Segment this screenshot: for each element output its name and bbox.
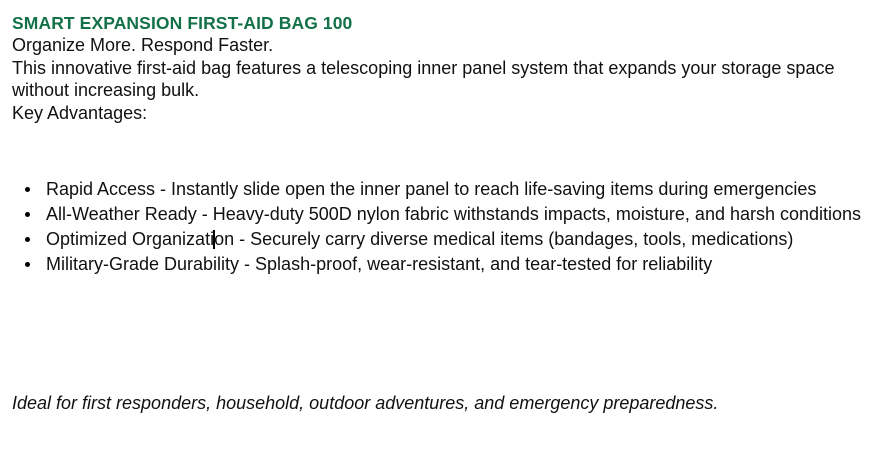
key-advantages-list: Rapid Access - Instantly slide open the …: [12, 178, 888, 278]
bullet-dot-icon: [25, 187, 30, 192]
product-tagline: Organize More. Respond Faster.: [12, 34, 886, 57]
list-item[interactable]: Optimized Organization - Securely carry …: [12, 228, 888, 251]
product-description-page: SMART EXPANSION FIRST-AID BAG 100 Organi…: [0, 0, 894, 449]
bullet-dot-icon: [25, 212, 30, 217]
bullet-dot-icon: [25, 262, 30, 267]
list-item-text: Rapid Access - Instantly slide open the …: [46, 179, 816, 199]
key-advantages-label: Key Advantages:: [12, 102, 886, 125]
list-item: Military-Grade Durability - Splash-proof…: [12, 253, 888, 276]
list-item-text-before-caret: Optimized Organizati: [46, 229, 214, 249]
closing-statement: Ideal for first responders, household, o…: [12, 392, 812, 415]
product-intro-paragraph: This innovative first-aid bag features a…: [12, 57, 874, 102]
list-item-text: All-Weather Ready - Heavy-duty 500D nylo…: [46, 204, 861, 224]
list-item: All-Weather Ready - Heavy-duty 500D nylo…: [12, 203, 888, 226]
list-item: Rapid Access - Instantly slide open the …: [12, 178, 888, 201]
bullet-dot-icon: [25, 237, 30, 242]
list-item-text-after-caret: on - Securely carry diverse medical item…: [214, 229, 793, 249]
page-title: SMART EXPANSION FIRST-AID BAG 100: [12, 12, 886, 34]
list-item-text: Military-Grade Durability - Splash-proof…: [46, 254, 712, 274]
